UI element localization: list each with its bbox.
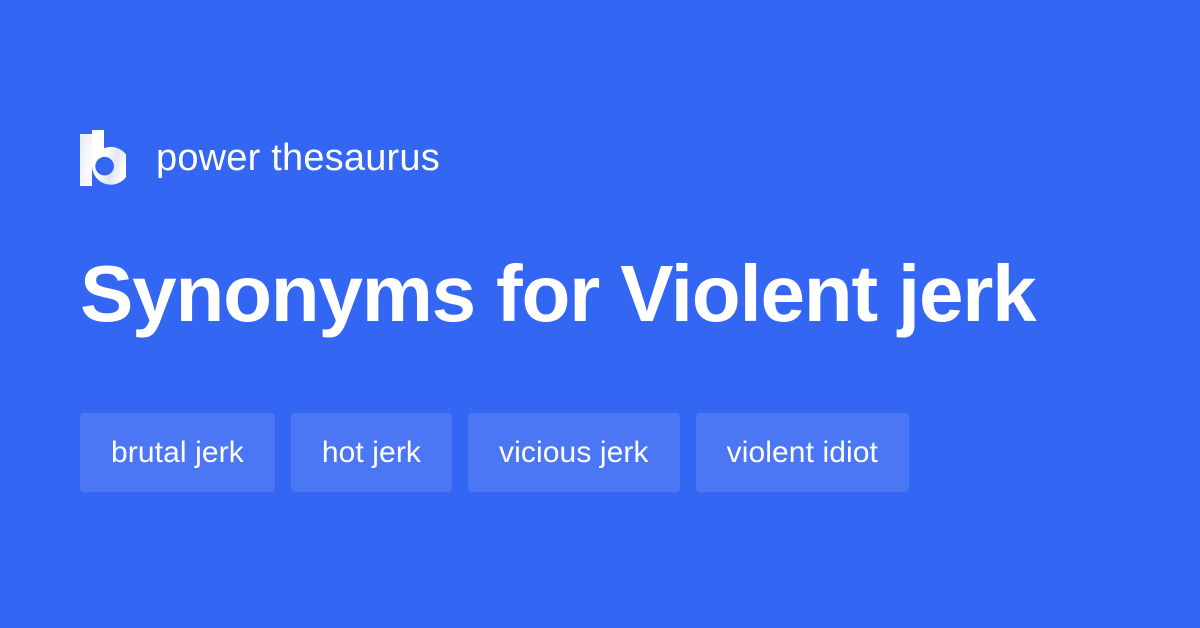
og-preview-card: Power Thesaurus Synonyms for Violent jer…: [0, 0, 1200, 628]
page-title: Synonyms for Violent jerk: [80, 248, 1140, 340]
synonym-chip-list: brutal jerk hot jerk vicious jerk violen…: [80, 413, 1140, 492]
brand-header[interactable]: Power Thesaurus: [80, 128, 440, 188]
power-thesaurus-b-logo-icon: [80, 130, 126, 186]
brand-name: Power Thesaurus: [156, 139, 440, 177]
synonym-chip[interactable]: brutal jerk: [80, 413, 275, 492]
synonym-chip[interactable]: vicious jerk: [468, 413, 680, 492]
synonym-chip[interactable]: hot jerk: [291, 413, 452, 492]
synonym-chip[interactable]: violent idiot: [696, 413, 909, 492]
